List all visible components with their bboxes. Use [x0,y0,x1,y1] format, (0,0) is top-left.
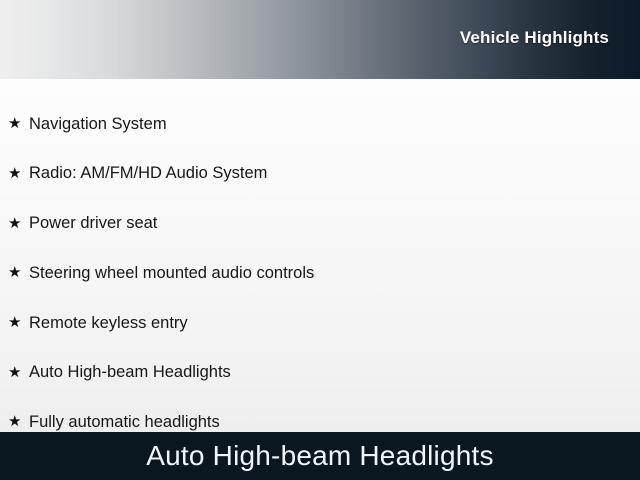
list-item-label: Radio: AM/FM/HD Audio System [29,164,640,182]
list-item: ★ Navigation System [0,99,640,149]
star-bullet-icon: ★ [8,365,29,380]
star-bullet-icon: ★ [8,216,29,231]
list-item-label: Power driver seat [29,214,640,232]
star-bullet-icon: ★ [8,315,29,330]
feature-list: ★ Navigation System ★ Radio: AM/FM/HD Au… [0,99,640,432]
list-item-label: Steering wheel mounted audio controls [29,264,640,282]
list-item: ★ Remote keyless entry [0,298,640,348]
list-item: ★ Radio: AM/FM/HD Audio System [0,149,640,199]
header-banner: Vehicle Highlights [0,0,640,79]
footer-caption: Auto High-beam Headlights [146,442,493,470]
star-bullet-icon: ★ [8,414,29,429]
list-item: ★ Auto High-beam Headlights [0,347,640,397]
list-item-label: Navigation System [29,115,640,133]
footer-banner: Auto High-beam Headlights [0,432,640,480]
highlights-content: ★ Navigation System ★ Radio: AM/FM/HD Au… [0,79,640,432]
vehicle-highlights-slide: Vehicle Highlights ★ Navigation System ★… [0,0,640,480]
star-bullet-icon: ★ [8,116,29,131]
page-title: Vehicle Highlights [460,28,609,48]
list-item: ★ Power driver seat [0,198,640,248]
list-item-label: Remote keyless entry [29,314,640,332]
list-item-label: Auto High-beam Headlights [29,363,640,381]
star-bullet-icon: ★ [8,265,29,280]
list-item: ★ Steering wheel mounted audio controls [0,248,640,298]
list-item: ★ Fully automatic headlights [0,397,640,432]
star-bullet-icon: ★ [8,166,29,181]
list-item-label: Fully automatic headlights [29,413,640,431]
